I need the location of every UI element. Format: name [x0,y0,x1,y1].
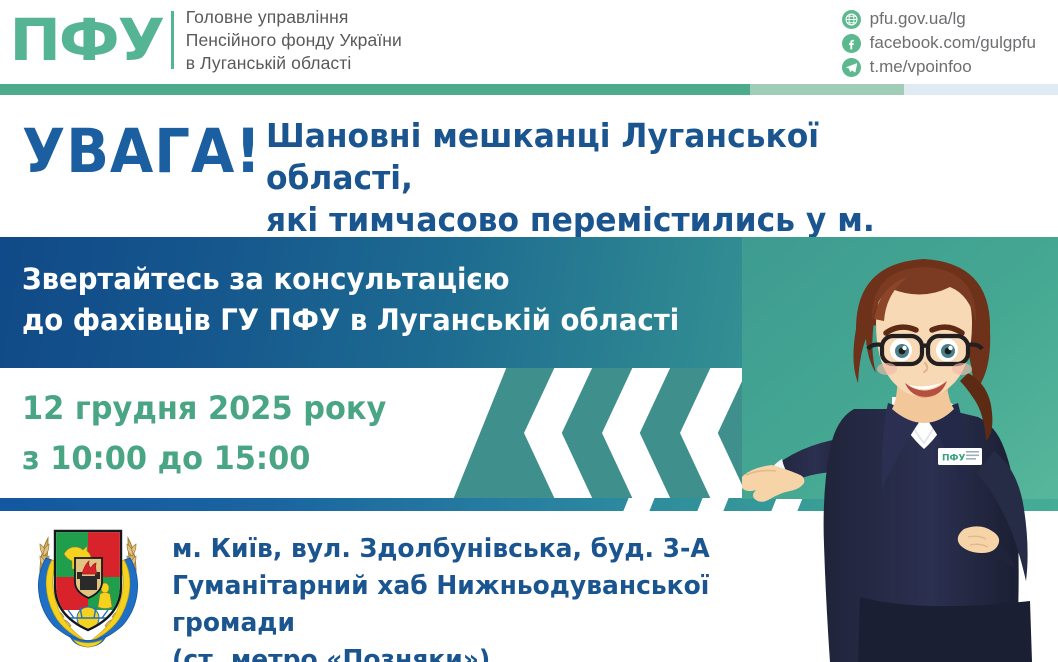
contact-telegram[interactable]: t.me/vpoinfoo [842,56,1036,78]
attention-badge: УВАГА! [22,121,262,182]
telegram-icon [842,58,861,77]
org-name: Головне управління Пенсійного фонду Укра… [186,6,402,74]
schedule-section: 12 грудня 2025 року з 10:00 до 15:00 [0,368,440,498]
schedule-date: 12 грудня 2025 року [22,384,386,434]
org-name-line-2: Пенсійного фонду України [186,29,402,52]
consultation-text: Звертайтесь за консультацією до фахівців… [22,259,744,340]
pfu-logo-mark: ПФУ [9,11,169,69]
schedule-text: 12 грудня 2025 року з 10:00 до 15:00 [22,384,386,483]
accent-segment-green [0,84,750,95]
svg-text:ПФУ: ПФУ [942,454,965,464]
contact-facebook-text: facebook.com/gulgpfu [870,33,1036,53]
contact-facebook[interactable]: facebook.com/gulgpfu [842,32,1036,54]
location-text: м. Київ, вул. Здолбунівська, буд. 3-А Гу… [172,531,786,662]
schedule-time: з 10:00 до 15:00 [22,434,386,484]
contact-website[interactable]: pfu.gov.ua/lg [842,8,1036,30]
org-name-line-1: Головне управління [186,6,402,29]
consultation-line-2: до фахівців ГУ ПФУ в Луганській області [22,300,744,341]
headline-line-1: Шановні мешканці Луганської області, [266,115,931,199]
contact-list: pfu.gov.ua/lg facebook.com/gulgpfu t.me/… [842,8,1036,78]
logo-divider [171,11,174,69]
contact-website-text: pfu.gov.ua/lg [870,9,966,29]
poster-root: ПФУ Головне управління Пенсійного фонду … [0,0,1058,662]
panel-left-notch [432,368,506,498]
consultation-line-1: Звертайтесь за консультацією [22,259,744,300]
header-accent-strip [0,84,1058,95]
poster-header: ПФУ Головне управління Пенсійного фонду … [0,0,1058,84]
location-line-1: м. Київ, вул. Здолбунівська, буд. 3-А [172,531,786,568]
consultant-illustration: ПФУ [742,237,1058,662]
divider-notch-2 [697,498,728,511]
accent-segment-pale-blue [904,84,1058,95]
globe-icon [842,10,861,29]
luhansk-coat-of-arms-icon [18,514,158,654]
location-line-2: Гуманітарний хаб Нижньодуванської громад… [172,568,786,642]
chevron-left-icon-1 [524,368,594,498]
chevron-left-icon-3 [680,368,750,498]
pfu-logo: ПФУ Головне управління Пенсійного фонду … [14,6,402,74]
accent-segment-light-green [750,84,904,95]
org-name-line-3: в Луганській області [186,52,402,75]
location-line-3: (ст. метро «Позняки») [172,642,786,662]
contact-telegram-text: t.me/vpoinfoo [870,57,972,77]
chevron-left-icon-2 [602,368,672,498]
attention-section: УВАГА! Шановні мешканці Луганської облас… [0,95,1058,237]
divider-notch-1 [623,498,654,511]
facebook-icon [842,34,861,53]
